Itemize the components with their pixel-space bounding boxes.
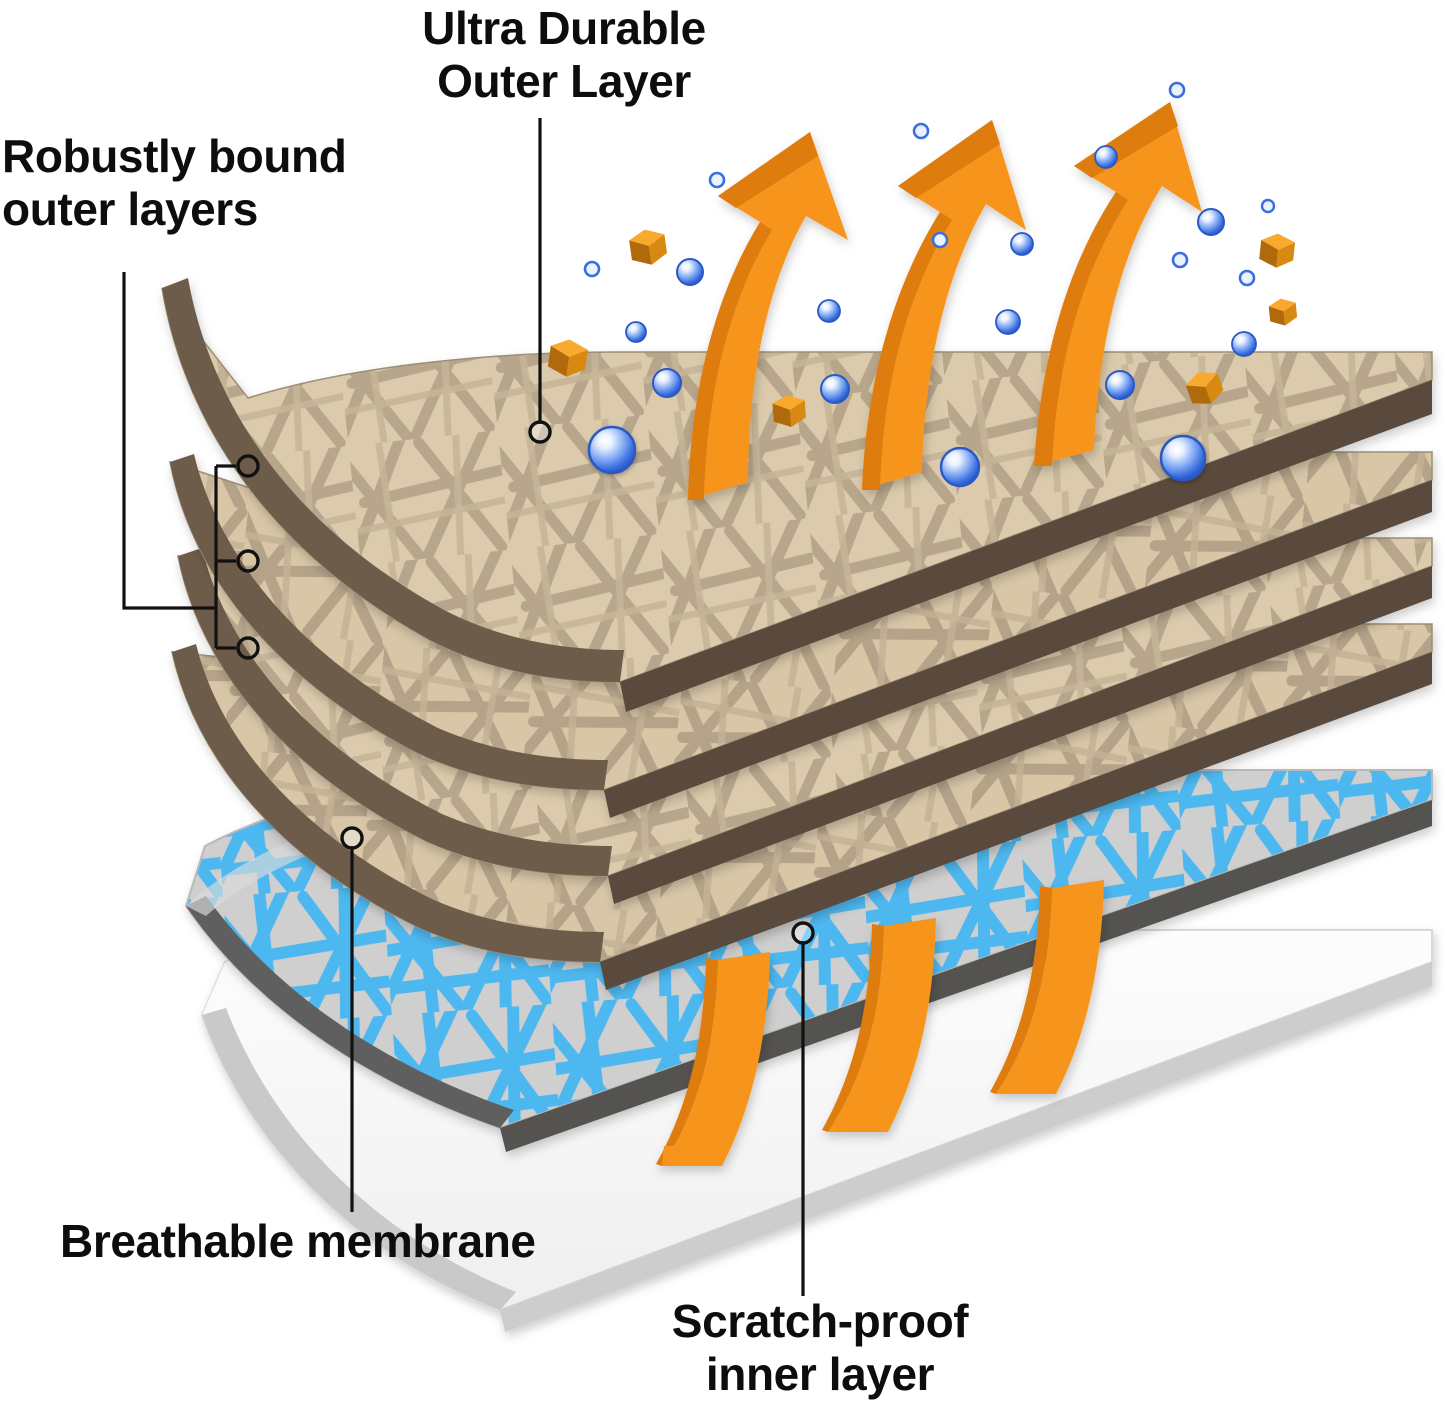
droplet [1232,332,1256,356]
droplet [653,369,681,397]
debris-cube [628,227,668,267]
droplet-small [710,173,724,187]
droplet [589,427,635,473]
droplet-small [1262,200,1274,212]
droplet-small [1240,271,1254,285]
diagram-canvas: Ultra Durable Outer Layer Robustly bound… [0,0,1445,1410]
droplet [941,448,979,486]
label-ultra-durable-outer-layer: Ultra Durable Outer Layer [384,2,744,109]
droplet [821,375,849,403]
droplet-small [1170,83,1184,97]
debris-cube [1258,232,1295,269]
droplet-small [1173,253,1187,267]
callout-marker-scratch-proof [793,923,813,943]
droplet [1161,436,1205,480]
label-robustly-bound-outer-layers: Robustly bound outer layers [2,130,422,237]
droplet [996,310,1020,334]
debris-cube [1268,297,1298,327]
droplet [818,300,840,322]
callout-marker-breathable-membrane [342,828,362,848]
droplet [1011,233,1033,255]
droplet [1198,209,1224,235]
droplet [1095,146,1117,168]
droplet [626,322,646,342]
droplet [677,259,703,285]
droplet-small [933,233,947,247]
label-breathable-membrane: Breathable membrane [60,1215,680,1268]
label-scratch-proof-inner-layer: Scratch-proof inner layer [600,1295,1040,1402]
droplet-small [914,124,928,138]
droplet [1106,371,1134,399]
droplet-small [585,262,599,276]
callout-marker-ultra-durable [530,422,550,442]
